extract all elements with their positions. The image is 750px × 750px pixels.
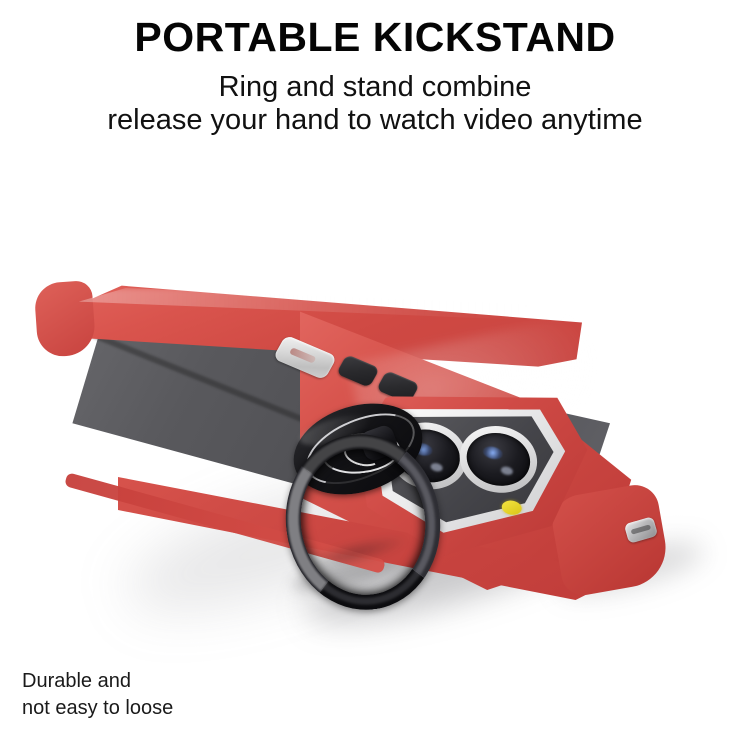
page-title: PORTABLE KICKSTAND xyxy=(0,16,750,59)
footnote-line-1: Durable and xyxy=(22,668,173,695)
phone-case-body xyxy=(0,150,750,670)
footnote: Durable and not easy to loose xyxy=(22,668,173,722)
footnote-line-2: not easy to loose xyxy=(22,695,173,722)
product-photo xyxy=(0,150,750,670)
frame-corner-top-left xyxy=(33,280,96,358)
ring-kickstand xyxy=(270,400,460,630)
subtitle-line-1: Ring and stand combine xyxy=(0,70,750,104)
subtitle-line-2: release your hand to watch video anytime xyxy=(0,103,750,137)
ring-metal-band xyxy=(275,424,452,620)
product-marketing-image: PORTABLE KICKSTAND Ring and stand combin… xyxy=(0,0,750,750)
